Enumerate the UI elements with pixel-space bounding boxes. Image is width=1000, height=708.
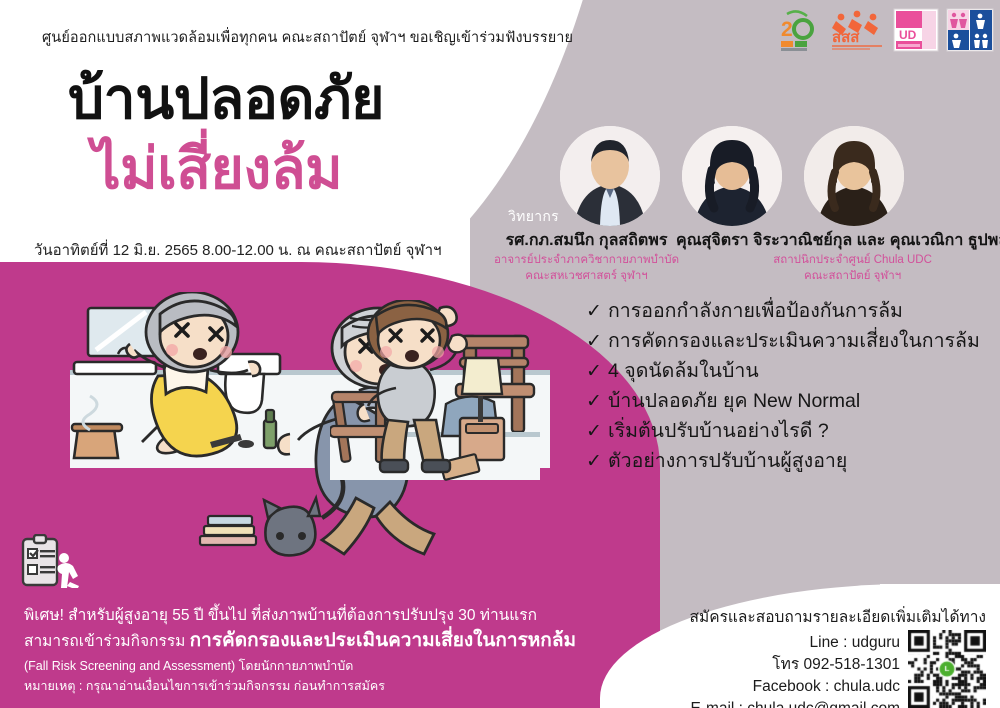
svg-text:UD: UD <box>899 28 917 42</box>
topic-label: การออกกำลังกายเพื่อป้องกันการล้ม <box>608 300 903 323</box>
line-qr-code[interactable] <box>908 630 986 708</box>
speaker-2-affiliation-1: สถาปนิกประจำศูนย์ Chula UDC <box>676 253 1000 269</box>
promo-line-2-prefix: สามารถเข้าร่วมกิจกรรม <box>24 633 190 650</box>
check-icon: ✓ <box>586 422 608 441</box>
ud-center-logo: UD <box>893 8 939 52</box>
topic-item: ✓ การออกกำลังกายเพื่อป้องกันการล้ม <box>586 300 980 323</box>
accessibility-icons-logo <box>946 8 994 52</box>
topic-label: เริ่มต้นปรับบ้านอย่างไรดี ? <box>608 420 829 443</box>
topic-item: ✓ การคัดกรองและประเมินความเสี่ยงในการล้ม <box>586 330 980 353</box>
svg-text:2: 2 <box>781 18 793 41</box>
speaker-1-name: รศ.กภ.สมนึก กุลสถิตพร <box>494 228 679 253</box>
avatar-speaker-3 <box>804 126 904 226</box>
topic-label: การคัดกรองและประเมินความเสี่ยงในการล้ม <box>608 330 980 353</box>
promo-line-1: พิเศษ! สำหรับผู้สูงอายุ 55 ปี ขึ้นไป ที่… <box>24 604 584 627</box>
promo-line-4: หมายเหตุ : กรุณาอ่านเงื่อนไขการเข้าร่วมก… <box>24 676 584 696</box>
topic-label: ตัวอย่างการปรับบ้านผู้สูงอายุ <box>608 450 847 473</box>
check-icon: ✓ <box>586 392 608 411</box>
topics-list: ✓ การออกกำลังกายเพื่อป้องกันการล้ม ✓ การ… <box>586 300 980 480</box>
speaker-2-name: คุณสุจิตรา จิระวาณิชย์กุล และ คุณเวณิกา … <box>676 228 1000 253</box>
speaker-1-info: รศ.กภ.สมนึก กุลสถิตพร อาจารย์ประจำภาควิช… <box>494 228 679 284</box>
contact-line[interactable]: Line : udguru <box>690 632 900 654</box>
topic-item: ✓ บ้านปลอดภัย ยุค New Normal <box>586 390 980 413</box>
contact-heading: สมัครและสอบถามรายละเอียดเพิ่มเติมได้ทาง <box>690 604 986 629</box>
speaker-portraits <box>560 126 904 226</box>
promo-line-3: (Fall Risk Screening and Assessment) โดย… <box>24 656 584 676</box>
topic-label: บ้านปลอดภัย ยุค New Normal <box>608 390 860 413</box>
contact-line[interactable]: โทร 092-518-1301 <box>690 654 900 676</box>
page-title-line2: ไม่เสี่ยงล้ม <box>92 140 342 200</box>
speaker-2-affiliation-2: คณะสถาปัตย์ จุฬาฯ <box>676 269 1000 285</box>
avatar-speaker-1 <box>560 126 660 226</box>
contact-line[interactable]: Facebook : chula.udc <box>690 676 900 698</box>
check-icon: ✓ <box>586 452 608 471</box>
check-icon: ✓ <box>586 362 608 381</box>
contact-block: สมัครและสอบถามรายละเอียดเพิ่มเติมได้ทาง … <box>690 604 986 708</box>
promo-block: พิเศษ! สำหรับผู้สูงอายุ 55 ปี ขึ้นไป ที่… <box>24 604 584 696</box>
check-icon: ✓ <box>586 302 608 321</box>
speakers-label: วิทยากร <box>508 206 559 228</box>
contact-line[interactable]: E-mail : chula.udc@gmail.com <box>690 698 900 708</box>
avatar-speaker-2 <box>682 126 782 226</box>
promo-line-2: สามารถเข้าร่วมกิจกรรม การคัดกรองและประเม… <box>24 627 584 656</box>
anniversary-20-logo: 2 <box>775 8 821 52</box>
speaker-1-affiliation-1: อาจารย์ประจำภาควิชากายภาพบำบัด <box>494 253 679 269</box>
logo-strip: 2 สสส UD <box>775 8 994 52</box>
svg-text:สสส: สสส <box>832 29 860 46</box>
topic-item: ✓ เริ่มต้นปรับบ้านอย่างไรดี ? <box>586 420 980 443</box>
thaihealth-sss-logo: สสส <box>828 8 886 52</box>
topic-item: ✓ 4 จุดนัดล้มในบ้าน <box>586 360 980 383</box>
speaker-1-affiliation-2: คณะสหเวชศาสตร์ จุฬาฯ <box>494 269 679 285</box>
poster-canvas: ศูนย์ออกแบบสภาพแวดล้อมเพื่อทุกคน คณะสถาป… <box>0 0 1000 708</box>
boy-bedroom-illustration <box>330 300 580 510</box>
promo-line-2-bold: การคัดกรองและประเมินความเสี่ยงในการหกล้ม <box>190 630 576 651</box>
speaker-2-info: คุณสุจิตรา จิระวาณิชย์กุล และ คุณเวณิกา … <box>676 228 1000 284</box>
page-title-line1: บ้านปลอดภัย <box>68 70 384 130</box>
organizer-line: ศูนย์ออกแบบสภาพแวดล้อมเพื่อทุกคน คณะสถาป… <box>42 26 573 49</box>
topic-label: 4 จุดนัดล้มในบ้าน <box>608 360 759 383</box>
check-icon: ✓ <box>586 332 608 351</box>
event-datetime: วันอาทิตย์ที่ 12 มิ.ย. 2565 8.00-12.00 น… <box>34 238 442 262</box>
fall-risk-checklist-icon <box>14 534 80 588</box>
topic-item: ✓ ตัวอย่างการปรับบ้านผู้สูงอายุ <box>586 450 980 473</box>
